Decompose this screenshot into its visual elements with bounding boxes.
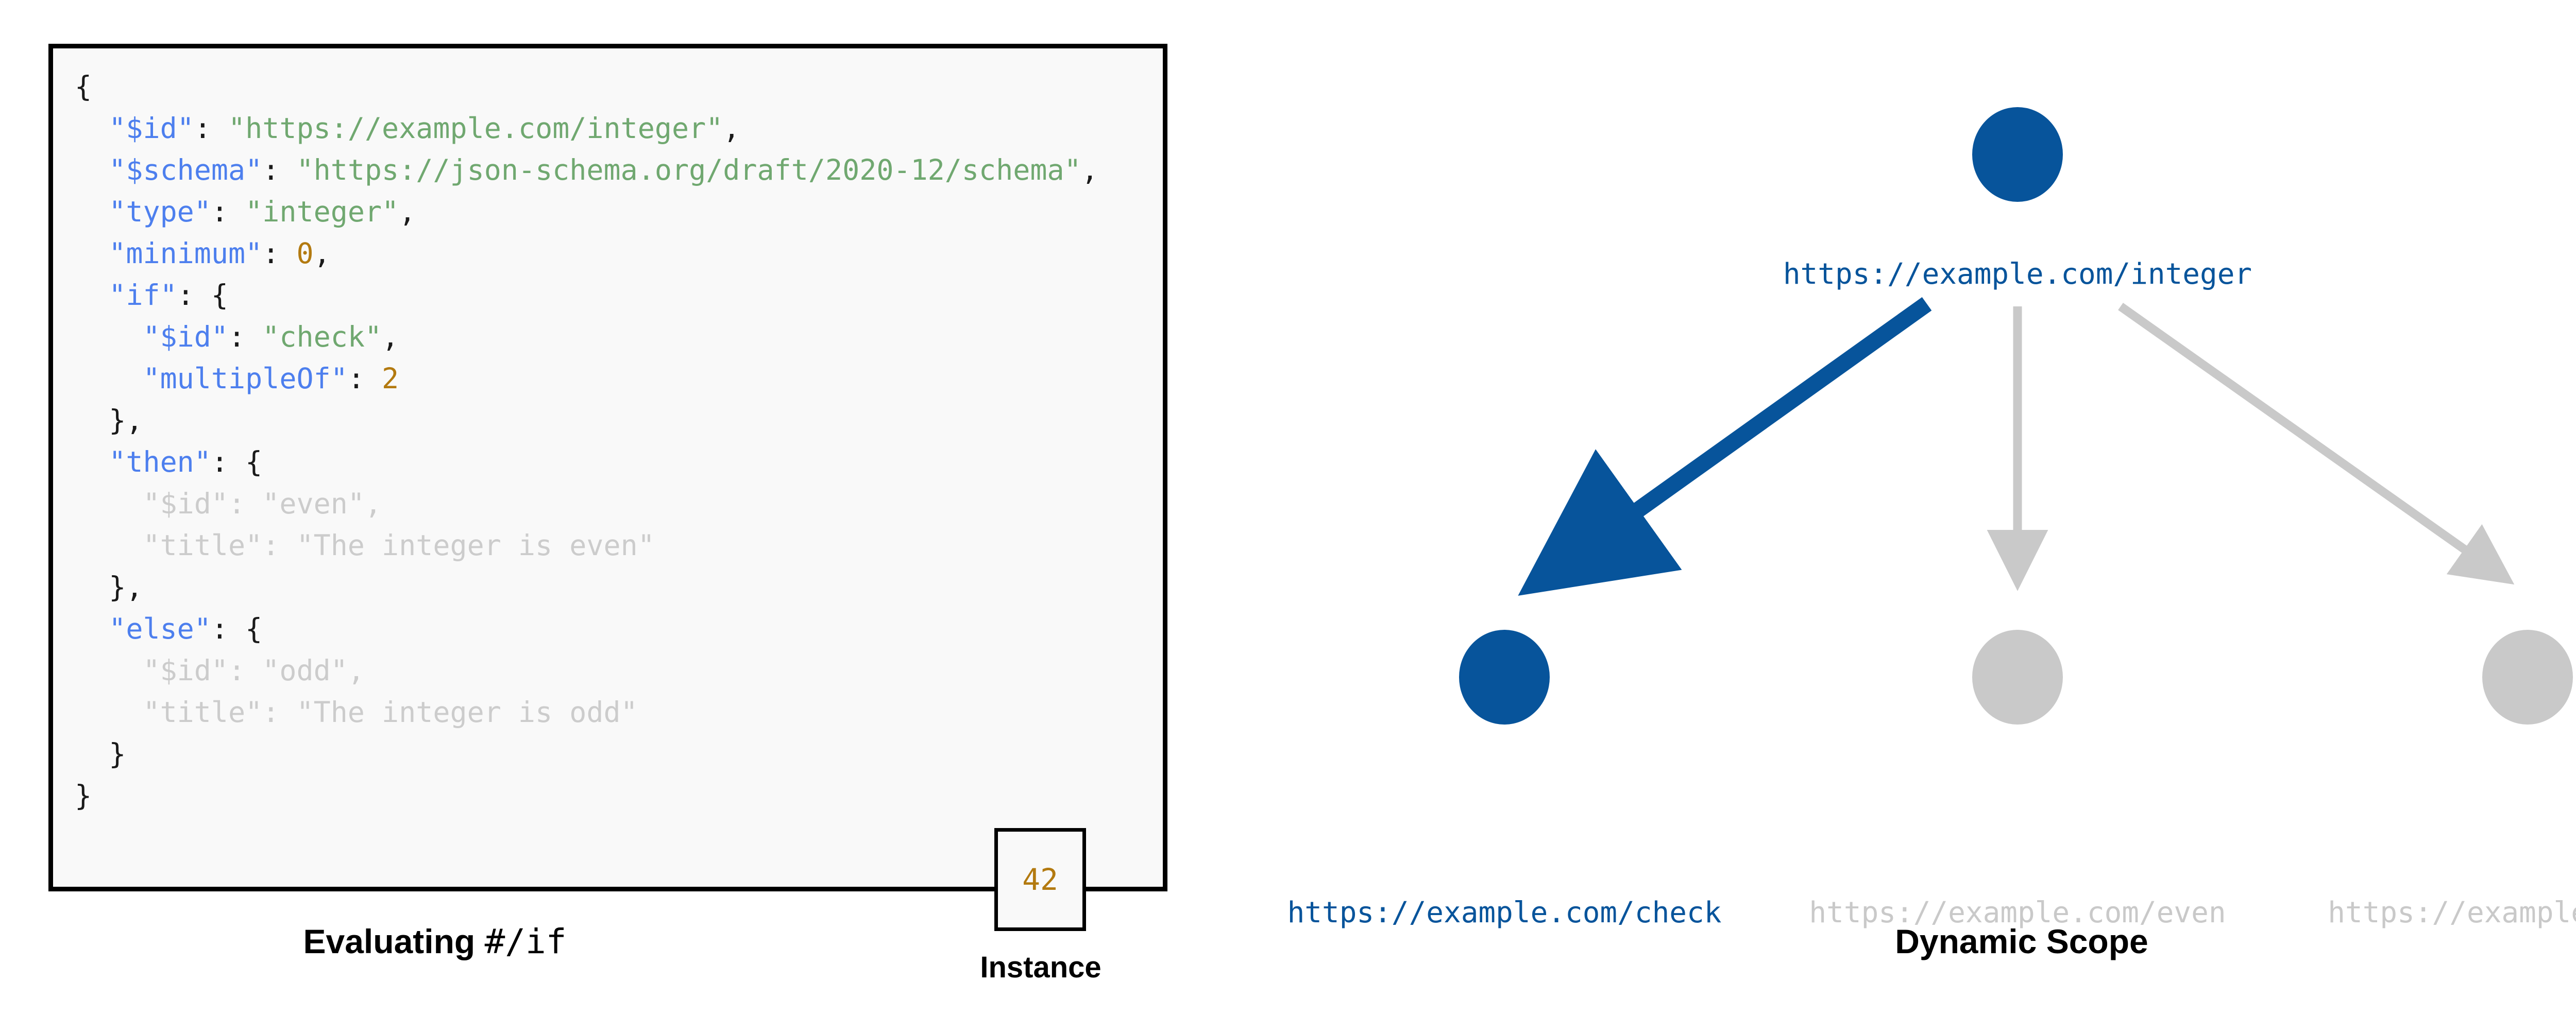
instance-box: 42 — [994, 828, 1086, 931]
instance-value: 42 — [1022, 862, 1058, 897]
code-line: "title": "The integer is even" — [75, 525, 1098, 566]
instance-caption: Instance — [963, 950, 1118, 985]
node-integer[interactable] — [1972, 107, 2063, 202]
code-line: { — [75, 66, 1098, 108]
code-line: "multipleOf": 2 — [75, 358, 1098, 400]
code-line: "$id": "odd", — [75, 650, 1098, 692]
code-line: "minimum": 0, — [75, 233, 1098, 274]
code-line: "type": "integer", — [75, 191, 1098, 233]
code-line: } — [75, 733, 1098, 775]
node-even[interactable] — [1972, 630, 2063, 725]
code-line: "$id": "even", — [75, 483, 1098, 525]
evaluating-schema-panel: { "$id": "https://example.com/integer", … — [0, 0, 1211, 1033]
code-line: "$id": "check", — [75, 316, 1098, 358]
code-line: "if": { — [75, 274, 1098, 316]
code-line: }, — [75, 566, 1098, 608]
edge-integer-to-check — [1548, 304, 1927, 574]
node-label-integer: https://example.com/integer — [1502, 257, 2533, 291]
edge-integer-to-odd — [2121, 306, 2502, 576]
node-odd[interactable] — [2482, 630, 2573, 725]
code-line: "else": { — [75, 608, 1098, 650]
code-line: "$schema": "https://json-schema.org/draf… — [75, 149, 1098, 191]
evaluating-caption: Evaluating #/if — [48, 922, 821, 961]
evaluating-caption-pointer: #/if — [485, 922, 567, 961]
code-line: "$id": "https://example.com/integer", — [75, 108, 1098, 149]
code-line: "title": "The integer is odd" — [75, 692, 1098, 733]
dynamic-scope-graph — [1211, 0, 2576, 906]
schema-code-block: { "$id": "https://example.com/integer", … — [48, 44, 1167, 891]
dynamic-scope-caption: Dynamic Scope — [1211, 922, 2576, 961]
evaluating-caption-prefix: Evaluating — [303, 922, 484, 960]
code-line: }, — [75, 400, 1098, 441]
node-check[interactable] — [1459, 630, 1550, 725]
code-line: "then": { — [75, 441, 1098, 483]
schema-code-listing: { "$id": "https://example.com/integer", … — [75, 66, 1098, 817]
dynamic-scope-panel: https://example.com/integer https://exam… — [1211, 0, 2576, 1033]
code-line: } — [75, 775, 1098, 817]
